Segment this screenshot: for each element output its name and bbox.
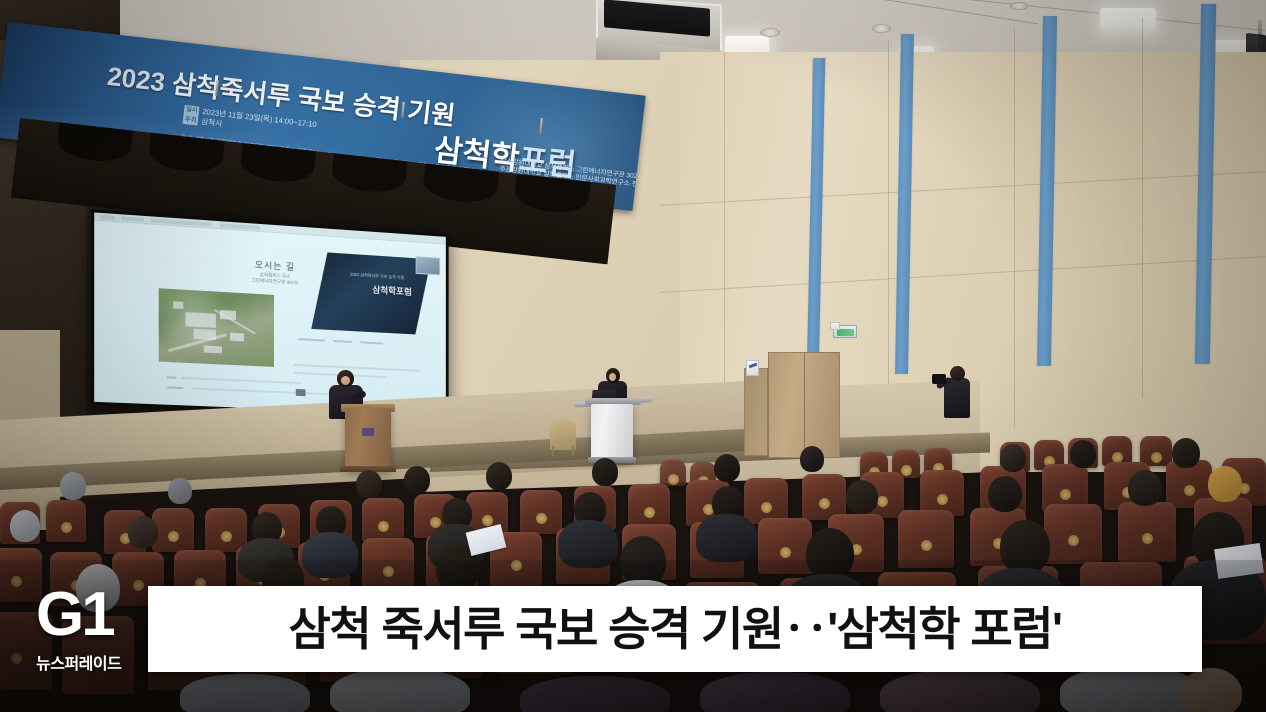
wall-sensor	[830, 322, 840, 330]
slide-subtitle-line2: 그린에너지연구관 302호	[252, 278, 299, 286]
headline-text: 삼척 죽서루 국보 승격 기원‥'삼척학 포럼'	[289, 604, 1062, 654]
seat	[1044, 504, 1102, 564]
audience-head	[1208, 466, 1242, 502]
projected-slide: 오시는 길 삼척캠퍼스 주소 그린에너지연구관 302호 2023 삼척죽서루 …	[94, 212, 446, 415]
lower-third-graphics: G1 뉴스퍼레이드 삼척 죽서루 국보 승격 기원‥'삼척학 포럼'	[0, 560, 1266, 712]
seat	[152, 508, 194, 552]
audience-head	[714, 454, 740, 482]
slide-text-line	[360, 341, 383, 344]
seat	[46, 500, 86, 542]
audience-head	[1128, 470, 1162, 506]
slide-text-line	[192, 387, 341, 395]
slide-text-line	[167, 376, 176, 378]
wall-seam	[888, 40, 889, 440]
curtain-scallop	[56, 122, 133, 164]
moderator-face	[609, 373, 616, 381]
audience-head	[356, 470, 382, 498]
audience-body	[696, 514, 758, 562]
banner-place-label: 장소	[500, 158, 513, 166]
wall-seam	[1142, 18, 1143, 398]
slide-text-line	[333, 340, 352, 343]
recessed-light	[872, 24, 891, 33]
audience-head	[128, 516, 158, 548]
podium-emblem	[362, 428, 374, 436]
slide-poster-title: 삼척학포럼	[372, 283, 412, 298]
presenter-face	[341, 376, 350, 385]
seat	[520, 490, 562, 534]
audience-head	[486, 462, 512, 490]
seat	[205, 508, 247, 552]
slide-text-line	[167, 386, 183, 388]
seat	[1140, 436, 1172, 466]
ceiling-light	[1100, 8, 1156, 32]
banner-host-value: 삼척시	[201, 117, 223, 128]
headline-banner: 삼척 죽서루 국보 승격 기원‥'삼척학 포럼'	[148, 586, 1202, 672]
audience-head	[800, 446, 824, 472]
audience-head	[168, 478, 192, 504]
wall-seam	[1014, 28, 1015, 428]
curtain-scallop	[513, 174, 590, 216]
projection-screen: 오시는 길 삼척캠퍼스 주소 그린에너지연구관 302호 2023 삼척죽서루 …	[91, 209, 449, 419]
slide-aerial-photo	[159, 288, 274, 367]
audience-head	[60, 472, 86, 500]
channel-branding: G1 뉴스퍼레이드	[36, 584, 148, 676]
seat	[660, 460, 686, 486]
broadcast-frame: 2023 삼척죽서루 국보 승격 기원 삼척학포럼 일시2023년 11월 23…	[0, 0, 1266, 712]
photographer-head	[950, 366, 965, 381]
audience-head	[1000, 444, 1026, 472]
curtain-scallop	[147, 133, 224, 175]
slide-text-line	[181, 377, 301, 384]
audience-head	[846, 480, 878, 514]
slide-poster-image	[311, 252, 431, 334]
slide-thumbnail	[416, 256, 441, 275]
wall-seam	[724, 52, 725, 432]
audience-head	[1070, 440, 1096, 468]
slide-footer-logo	[296, 389, 306, 396]
audience-head	[10, 510, 40, 542]
slide-text-line	[294, 364, 420, 371]
seat	[362, 498, 404, 542]
curtain-scallop	[330, 153, 407, 195]
recessed-light	[1010, 2, 1028, 10]
seat	[1118, 502, 1176, 562]
audience-head	[1172, 438, 1200, 468]
curtain-scallop	[422, 163, 499, 205]
seat	[628, 484, 670, 528]
program-name: 뉴스퍼레이드	[36, 650, 121, 674]
channel-logo: G1	[36, 584, 113, 646]
curtain-scallop	[239, 143, 316, 185]
slide-text-line	[298, 338, 325, 341]
audience-head	[404, 466, 430, 494]
banner-year: 2023	[106, 61, 167, 97]
wall-notice-plate	[746, 360, 759, 376]
banner-host-label: 주최	[182, 115, 198, 126]
audience-head	[592, 458, 618, 486]
recessed-light	[760, 28, 780, 37]
audience-head	[988, 476, 1022, 512]
camera-icon	[932, 374, 946, 384]
